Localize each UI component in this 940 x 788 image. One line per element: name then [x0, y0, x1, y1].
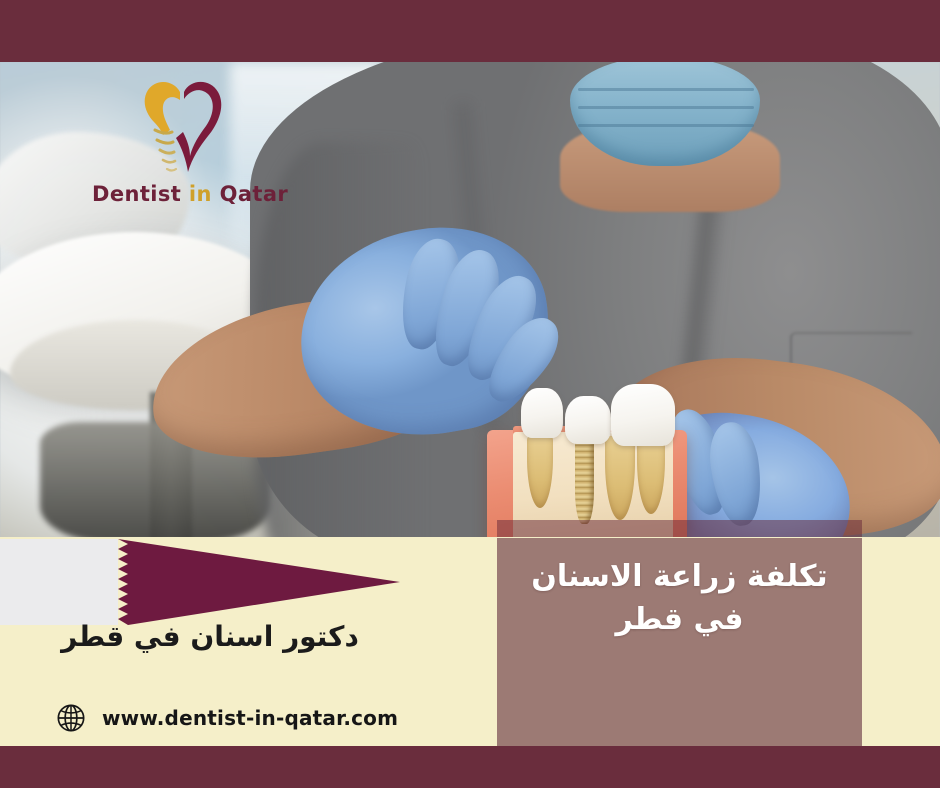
logo-maroon-half	[176, 82, 221, 172]
website-url-text[interactable]: www.dentist-in-qatar.com	[102, 706, 398, 730]
bottom-border-bar	[0, 746, 940, 788]
arabic-subtitle: دكتور اسنان في قطر	[0, 620, 420, 654]
logo-thread-3	[160, 150, 174, 153]
arabic-title-text: تكلفة زراعة الاسنان في قطر	[497, 556, 862, 641]
implant-screw-icon	[575, 440, 594, 524]
website-url-row[interactable]: www.dentist-in-qatar.com	[56, 703, 398, 733]
logo-thread-2	[157, 140, 173, 143]
mask-pleat-1	[578, 88, 754, 91]
dental-implant-model	[487, 380, 687, 538]
arabic-title-line-1: تكلفة زراعة الاسنان	[497, 556, 862, 599]
logo-word-dentist: Dentist	[92, 182, 181, 206]
crown-molar	[611, 384, 675, 446]
logo-gold-half	[145, 82, 180, 135]
qatar-flag-pennant	[0, 537, 400, 627]
poster-canvas: تكلفة زراعة الاسنان في قطر دكتور اسنان ف…	[0, 0, 940, 788]
title-panel-overlay	[497, 520, 862, 538]
logo-wordmark: Dentist in Qatar	[92, 182, 272, 206]
logo-word-qatar: Qatar	[220, 182, 289, 206]
crown-held	[521, 388, 563, 438]
crown-center	[565, 396, 611, 444]
logo-thread-4	[163, 160, 175, 162]
brand-logo: Dentist in Qatar	[92, 72, 272, 220]
tooth-implant-icon	[130, 72, 234, 180]
mask-pleat-2	[578, 106, 754, 109]
flag-maroon-band	[118, 539, 400, 625]
mask-pleat-3	[578, 124, 754, 127]
arabic-title-line-2: في قطر	[497, 599, 862, 642]
logo-thread-5	[167, 169, 176, 171]
globe-icon	[56, 703, 86, 733]
top-border-bar	[0, 0, 940, 62]
flag-white-band	[0, 539, 118, 625]
logo-word-in: in	[189, 182, 212, 206]
